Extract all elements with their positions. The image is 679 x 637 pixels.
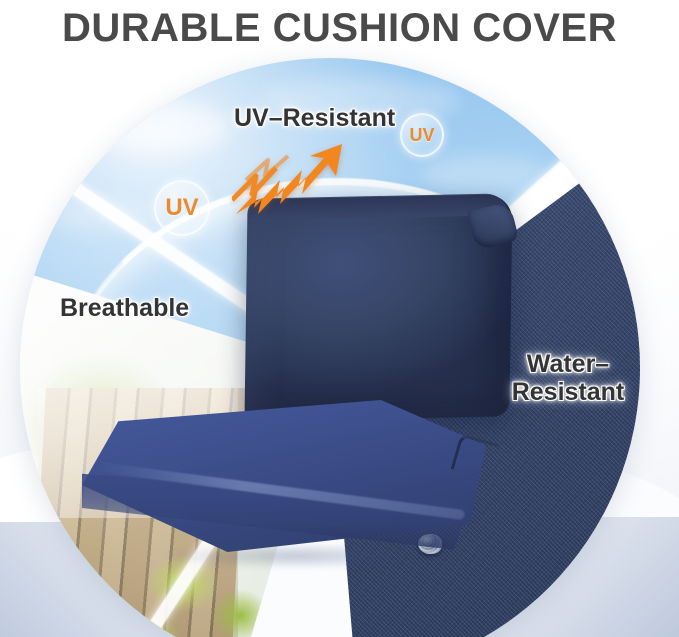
page-title: DURABLE CUSHION COVER <box>0 0 679 56</box>
water-droplet-icon <box>382 478 436 522</box>
uv-badge-large: UV <box>154 180 210 236</box>
feature-label-uv-resistant: UV–Resistant <box>234 104 395 132</box>
uv-badge-small: UV <box>400 113 444 157</box>
water-droplet-icon <box>418 534 442 554</box>
feature-collage-circle <box>20 58 640 637</box>
feature-label-breathable: Breathable <box>60 294 189 322</box>
feature-label-water-resistant: Water–Resistant <box>508 350 628 406</box>
cloud-shape <box>80 102 230 154</box>
infographic-canvas: DURABLE CUSHION COVER <box>0 0 679 637</box>
water-droplet-icon <box>452 388 482 413</box>
